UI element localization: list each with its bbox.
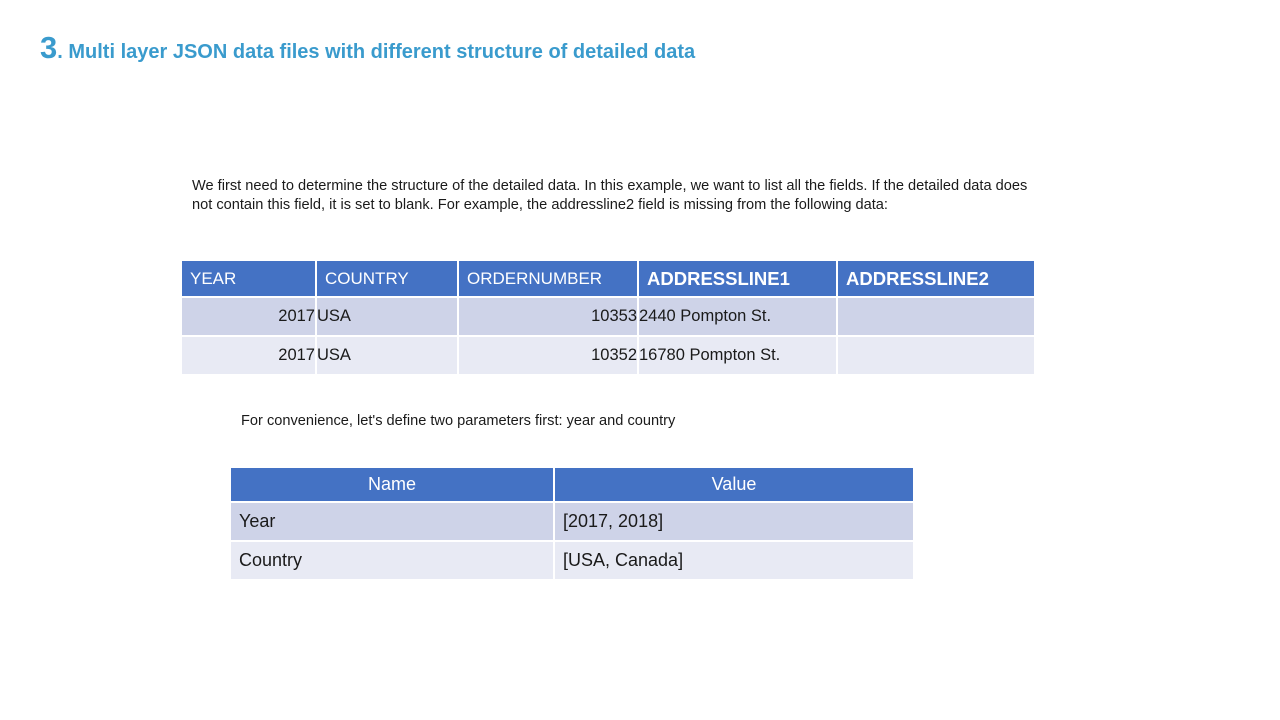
column-header-name: Name bbox=[231, 468, 555, 503]
cell-addressline2 bbox=[838, 298, 1034, 337]
intro-paragraph: We first need to determine the structure… bbox=[192, 177, 1037, 216]
table-row: 2017 USA 10353 2440 Pompton St. bbox=[182, 298, 1034, 337]
detailed-data-table: YEAR COUNTRY ORDERNUMBER ADDRESSLINE1 AD… bbox=[182, 261, 1034, 376]
table-header-row: YEAR COUNTRY ORDERNUMBER ADDRESSLINE1 AD… bbox=[182, 261, 1034, 298]
column-header-ordernumber: ORDERNUMBER bbox=[459, 261, 639, 298]
cell-addressline1: 16780 Pompton St. bbox=[639, 337, 838, 376]
cell-param-value: [USA, Canada] bbox=[555, 542, 913, 581]
cell-addressline2 bbox=[838, 337, 1034, 376]
column-header-addressline2: ADDRESSLINE2 bbox=[838, 261, 1034, 298]
cell-param-name: Year bbox=[231, 503, 555, 542]
table-header-row: Name Value bbox=[231, 468, 913, 503]
column-header-value: Value bbox=[555, 468, 913, 503]
column-header-addressline1: ADDRESSLINE1 bbox=[639, 261, 838, 298]
table-row: Year [2017, 2018] bbox=[231, 503, 913, 542]
title-text: . Multi layer JSON data files with diffe… bbox=[57, 41, 695, 63]
column-header-year: YEAR bbox=[182, 261, 317, 298]
cell-param-value: [2017, 2018] bbox=[555, 503, 913, 542]
cell-addressline1: 2440 Pompton St. bbox=[639, 298, 838, 337]
cell-ordernumber: 10353 bbox=[459, 298, 639, 337]
cell-country: USA bbox=[317, 337, 459, 376]
cell-param-name: Country bbox=[231, 542, 555, 581]
page-title: 3. Multi layer JSON data files with diff… bbox=[40, 32, 695, 63]
parameters-note: For convenience, let's define two parame… bbox=[241, 412, 941, 431]
title-number: 3 bbox=[40, 30, 57, 65]
column-header-country: COUNTRY bbox=[317, 261, 459, 298]
cell-ordernumber: 10352 bbox=[459, 337, 639, 376]
parameters-table: Name Value Year [2017, 2018] Country [US… bbox=[231, 468, 913, 581]
cell-year: 2017 bbox=[182, 298, 317, 337]
cell-country: USA bbox=[317, 298, 459, 337]
cell-year: 2017 bbox=[182, 337, 317, 376]
table-row: Country [USA, Canada] bbox=[231, 542, 913, 581]
table-row: 2017 USA 10352 16780 Pompton St. bbox=[182, 337, 1034, 376]
